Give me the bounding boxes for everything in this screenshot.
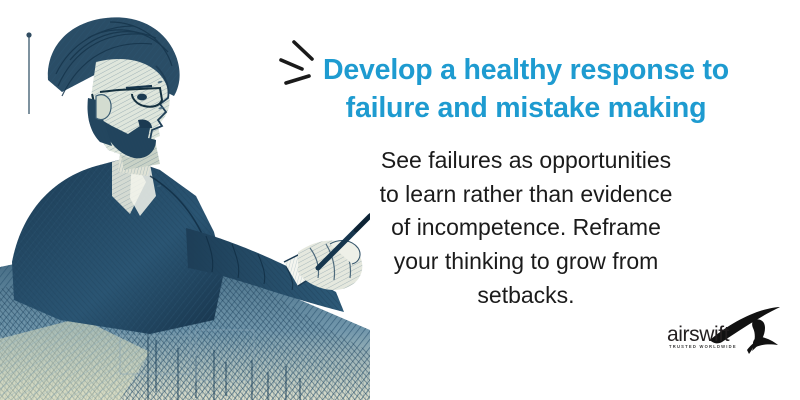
social-quote-card: Develop a healthy response to failure an… — [0, 0, 800, 400]
page-title: Develop a healthy response to failure an… — [300, 52, 752, 128]
body-line-5: setbacks. — [477, 282, 574, 308]
sketch-guide-pin — [26, 32, 31, 114]
heading-line-2: failure and mistake making — [346, 92, 707, 124]
quote-text-block: Develop a healthy response to failure an… — [300, 52, 752, 313]
body-paragraph: See failures as opportunities to learn r… — [300, 144, 752, 313]
heading-line-1: Develop a healthy response to — [323, 54, 729, 86]
body-line-3: of incompetence. Reframe — [391, 214, 661, 240]
logo-tagline: TRUSTED WORLDWIDE — [669, 345, 737, 349]
body-line-4: your thinking to grow from — [394, 248, 659, 274]
body-line-1: See failures as opportunities — [381, 147, 671, 173]
body-line-2: to learn rather than evidence — [380, 181, 673, 207]
logo-wordmark: airswift — [667, 324, 729, 345]
airswift-logo: airswift TRUSTED WORLDWIDE — [664, 306, 782, 362]
